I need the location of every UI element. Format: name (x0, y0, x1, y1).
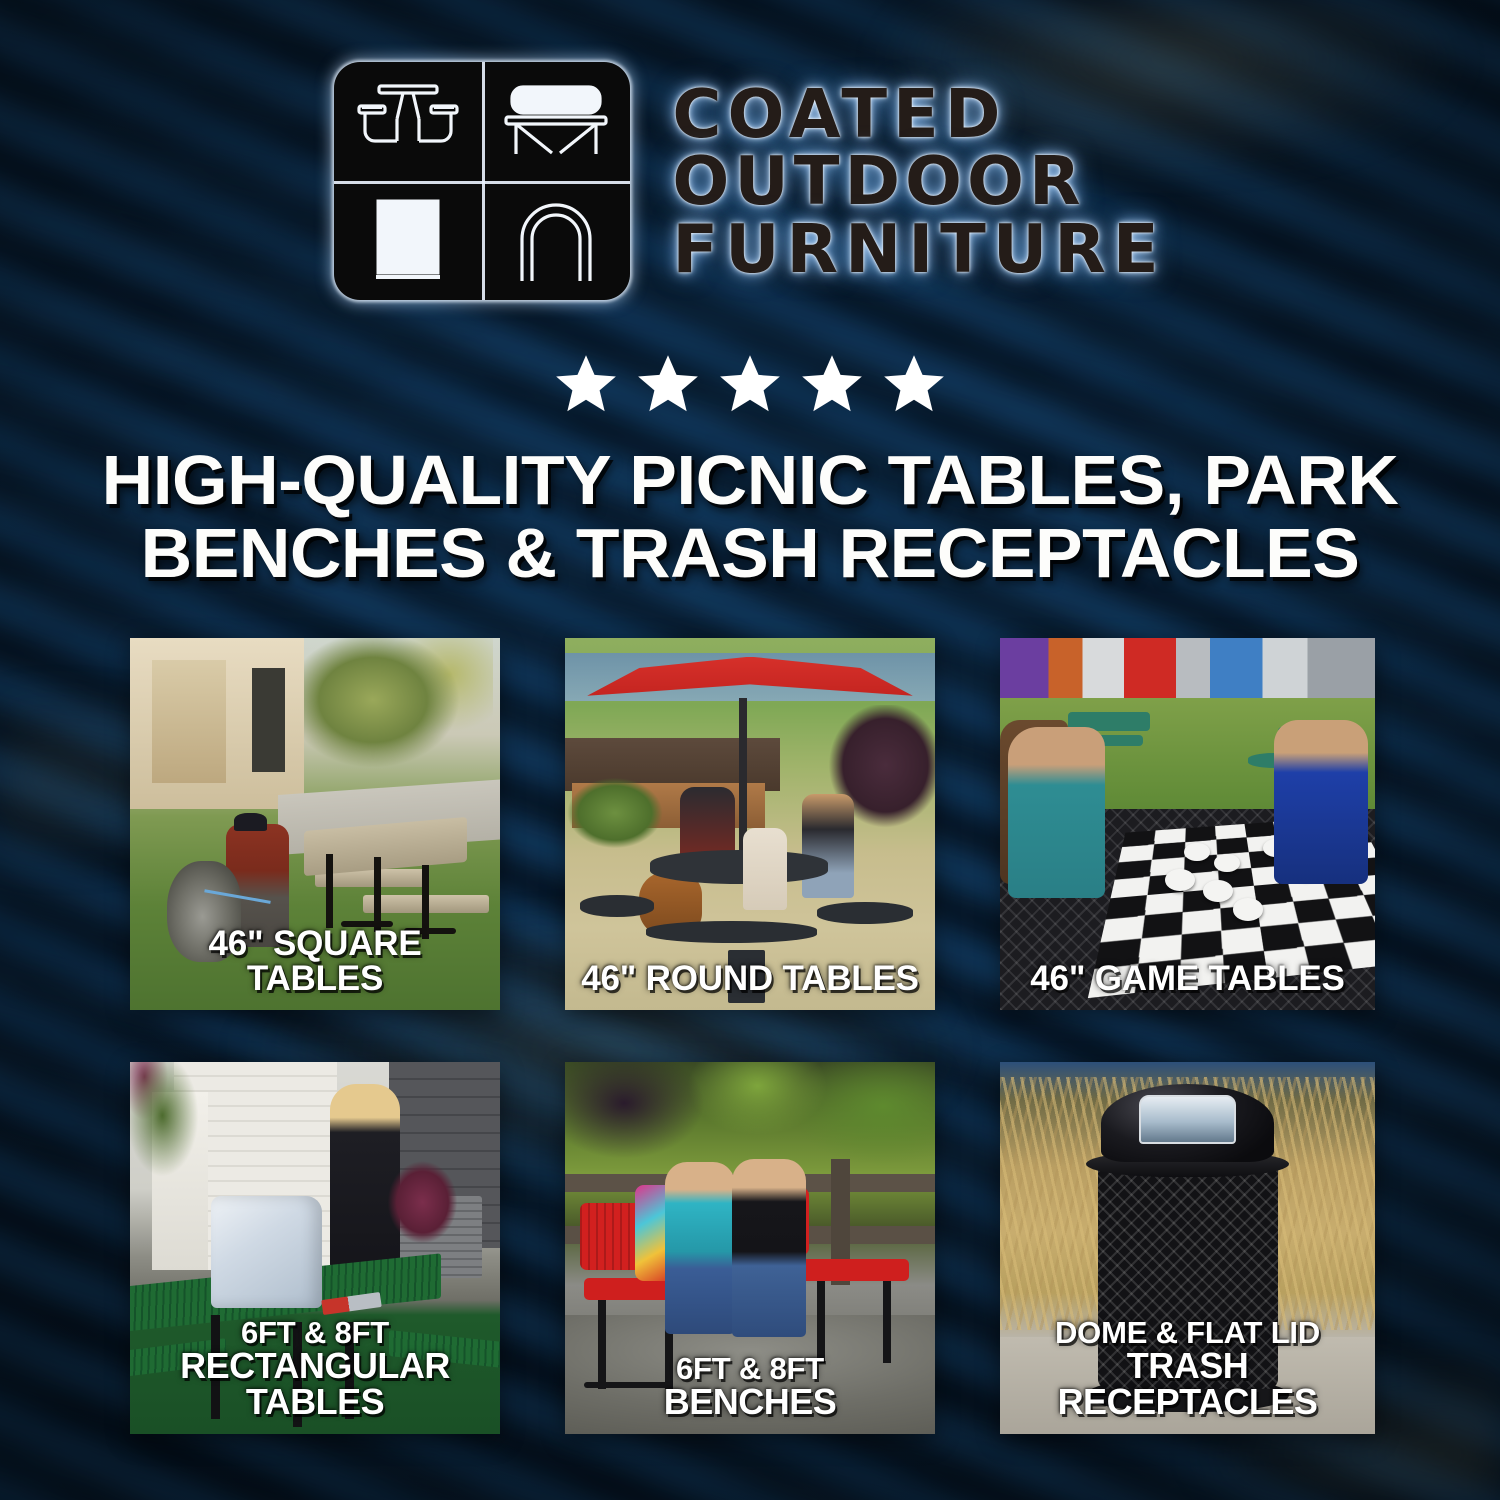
page-title: HIGH-QUALITY PICNIC TABLES, PARK BENCHES… (46, 444, 1454, 590)
product-tile-rectangular-tables[interactable]: 6FT & 8FT RECTANGULAR TABLES (130, 1062, 500, 1434)
product-photo (565, 638, 935, 1010)
product-tile-game-tables[interactable]: 46" GAME TABLES (1000, 638, 1375, 1010)
caption-line-1: 46" ROUND TABLES (581, 959, 919, 998)
caption-line-2: RECTANGULAR TABLES (136, 1348, 494, 1420)
brand-line-2: OUTDOOR (672, 149, 1165, 215)
brand-line-3: FURNITURE (672, 217, 1165, 283)
caption-line-1: 6FT & 8FT (136, 1317, 494, 1348)
caption-line-1: 46" GAME TABLES (1030, 959, 1344, 998)
picnic-table-icon (334, 62, 482, 181)
product-caption: 6FT & 8FT BENCHES (571, 1353, 929, 1420)
star-icon (717, 352, 783, 416)
caption-line-1: 46" SQUARE TABLES (209, 924, 422, 998)
brand-wordmark: COATED OUTDOOR FURNITURE (672, 80, 1165, 283)
product-tile-benches[interactable]: 6FT & 8FT BENCHES (565, 1062, 935, 1434)
star-icon (635, 352, 701, 416)
product-caption: 6FT & 8FT RECTANGULAR TABLES (136, 1317, 494, 1420)
bike-rack-icon (482, 181, 630, 300)
caption-line-1: DOME & FLAT LID (1006, 1317, 1369, 1348)
trash-receptacle-icon (334, 181, 482, 300)
product-caption: 46" SQUARE TABLES (136, 926, 494, 996)
product-tile-square-tables[interactable]: 46" SQUARE TABLES (130, 638, 500, 1010)
star-icon (799, 352, 865, 416)
product-tile-round-tables[interactable]: 46" ROUND TABLES (565, 638, 935, 1010)
logo-mark (334, 62, 630, 300)
star-rating (0, 352, 1500, 416)
headline-line-2: BENCHES & TRASH RECEPTACLES (46, 517, 1454, 590)
caption-line-2: BENCHES (571, 1384, 929, 1420)
product-caption: 46" GAME TABLES (1006, 961, 1369, 996)
brand-line-1: COATED (672, 82, 1165, 148)
product-photo (1000, 638, 1375, 1010)
promotional-poster: COATED OUTDOOR FURNITURE HIGH-QUALITY PI… (0, 0, 1500, 1500)
brand-logo-row: COATED OUTDOOR FURNITURE (0, 62, 1500, 300)
product-caption: DOME & FLAT LID TRASH RECEPTACLES (1006, 1317, 1369, 1420)
headline-line-1: HIGH-QUALITY PICNIC TABLES, PARK (46, 444, 1454, 517)
product-grid: 46" SQUARE TABLES (130, 638, 1375, 1434)
caption-line-1: 6FT & 8FT (571, 1353, 929, 1384)
star-icon (881, 352, 947, 416)
caption-line-2: TRASH RECEPTACLES (1006, 1348, 1369, 1420)
star-icon (553, 352, 619, 416)
bench-icon (482, 62, 630, 181)
product-tile-trash-receptacles[interactable]: DOME & FLAT LID TRASH RECEPTACLES (1000, 1062, 1375, 1434)
product-caption: 46" ROUND TABLES (571, 961, 929, 996)
